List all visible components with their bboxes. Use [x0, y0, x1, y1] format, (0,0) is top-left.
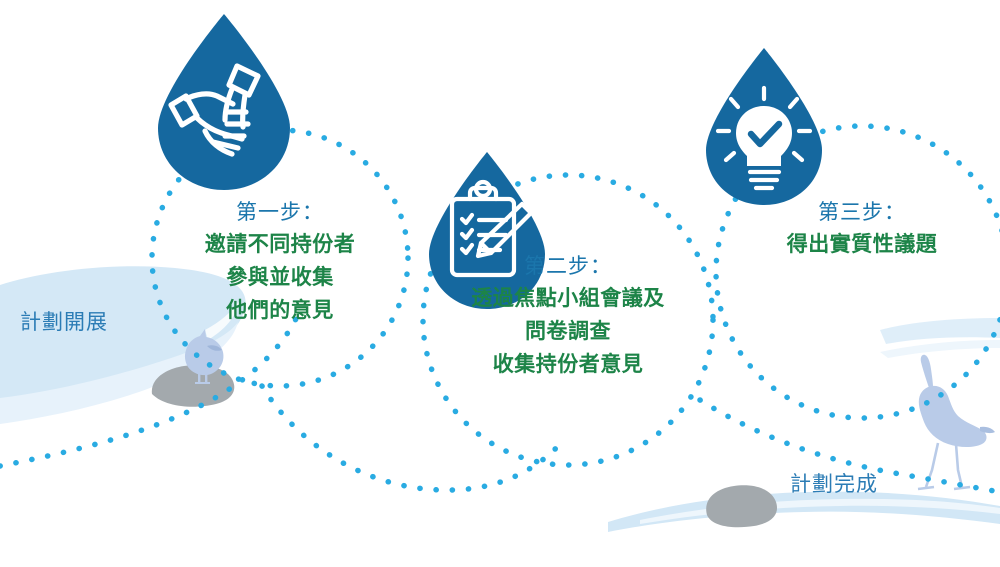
step-3-text-block: 第三步： 得出實質性議題	[742, 198, 982, 261]
step-2-line-1: 透過焦點小組會議及	[438, 282, 698, 315]
step-3-drop[interactable]	[706, 48, 822, 205]
label-project-start: 計劃開展	[20, 306, 108, 336]
step-2-title: 第二步：	[438, 252, 698, 282]
step-1-text-block: 第一步： 邀請不同持份者 參與並收集 他們的意見	[180, 198, 380, 327]
step-2-line-3: 收集持份者意見	[438, 348, 698, 381]
step-1-line-1: 邀請不同持份者	[180, 228, 380, 261]
step-1-line-3: 他們的意見	[180, 294, 380, 327]
step-2-line-2: 問卷調查	[438, 315, 698, 348]
infographic-canvas: 第一步： 邀請不同持份者 參與並收集 他們的意見 第二步： 透過焦點小組會議及 …	[0, 0, 1000, 567]
step-1-title: 第一步：	[180, 198, 380, 228]
step-1-drop[interactable]	[158, 14, 290, 190]
step-3-title: 第三步：	[742, 198, 982, 228]
step-1-line-2: 參與並收集	[180, 261, 380, 294]
step-2-text-block: 第二步： 透過焦點小組會議及 問卷調查 收集持份者意見	[438, 252, 698, 381]
label-project-complete: 計劃完成	[790, 468, 878, 498]
step-3-line-1: 得出實質性議題	[742, 228, 982, 261]
